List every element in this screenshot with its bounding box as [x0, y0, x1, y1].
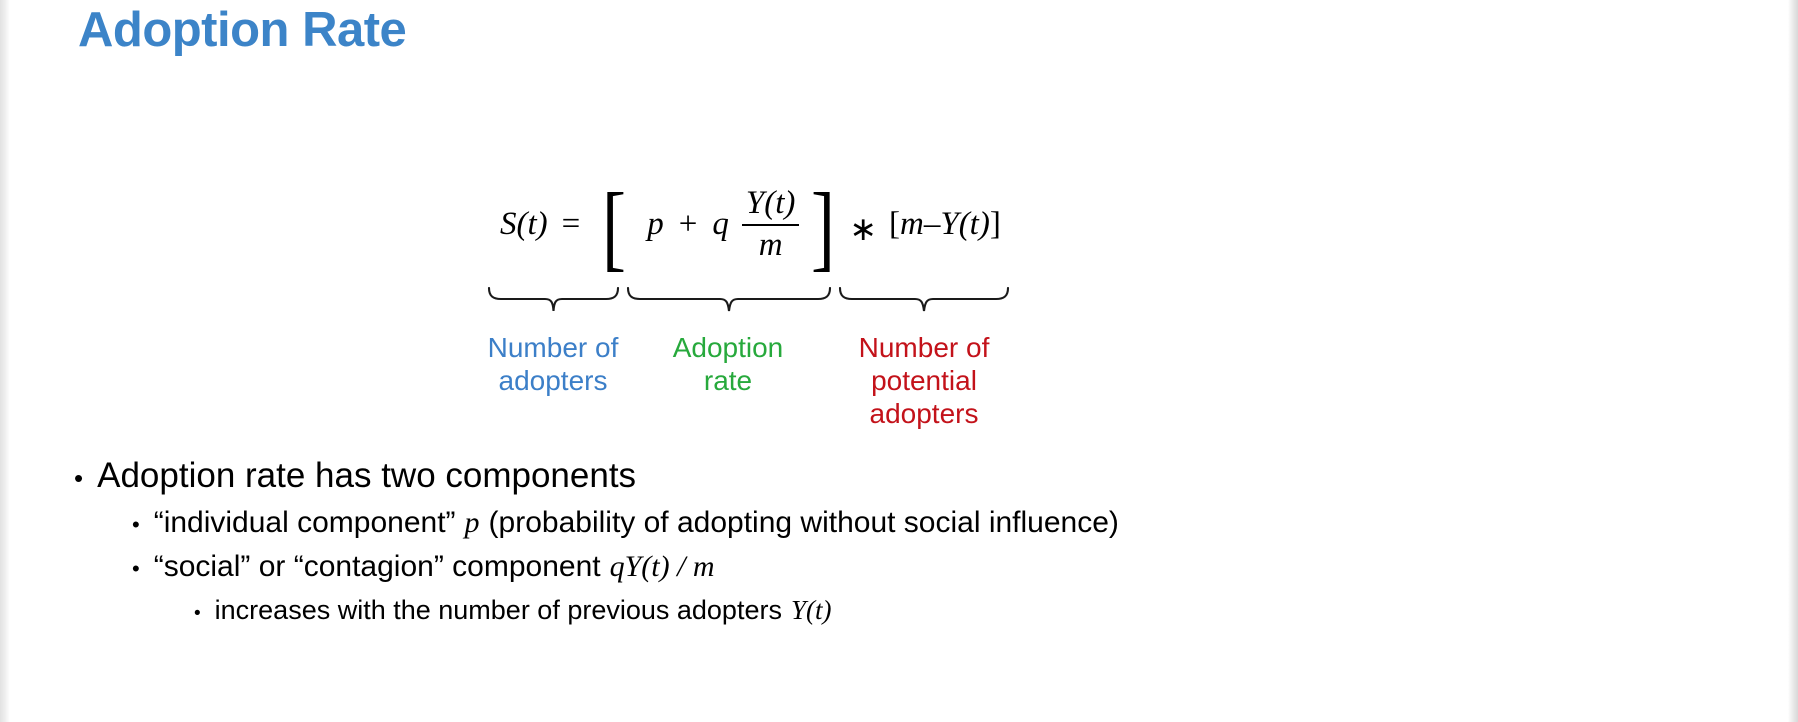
annotation-line-2: adopters — [453, 364, 653, 397]
formula-equals: = — [562, 206, 581, 243]
list-item: • Adoption rate has two components — [70, 452, 1730, 502]
list-item-text: Adoption rate has two components — [97, 452, 636, 500]
list-item-math: Y(t) — [791, 590, 832, 630]
formula-rhs-group: [m–Y(t)] — [889, 206, 1001, 243]
list-item-math: qY(t) / m — [610, 546, 715, 588]
rhs-open-bracket: [ — [889, 206, 900, 242]
slide-left-edge — [0, 0, 10, 722]
list-item: • increases with the number of previous … — [70, 590, 1730, 634]
fraction-denominator: m — [742, 224, 800, 264]
formula-p-term: p — [647, 206, 664, 243]
annotation-line-1: Number of — [453, 331, 653, 364]
formula-inner-group: p + q Y(t) m — [630, 186, 807, 263]
annotation-line-1: Number of — [834, 331, 1014, 364]
rhs-close-bracket: ] — [990, 206, 1001, 242]
list-item-text: “social” or “contagion” component — [154, 546, 601, 588]
fraction-numerator: Y(t) — [742, 186, 800, 224]
bullet-list: • Adoption rate has two components • “in… — [70, 452, 1730, 634]
annotation-number-of-adopters: Number of adopters — [453, 331, 653, 397]
list-item: • “social” or “contagion” component qY(t… — [70, 546, 1730, 590]
page-title: Adoption Rate — [78, 2, 406, 58]
annotation-adoption-rate: Adoption rate — [640, 331, 816, 397]
bullet-glyph-icon: • — [74, 454, 83, 502]
adoption-rate-formula: S(t) = [ p + q Y(t) m ] ∗ [m–Y(t)] — [500, 186, 1001, 263]
formula-fraction: Y(t) m — [742, 186, 800, 263]
rhs-Y: Y(t) — [940, 206, 990, 242]
list-item-math: p — [465, 502, 480, 544]
slide-canvas: Adoption Rate S(t) = [ p + q Y(t) m ] ∗ … — [0, 0, 1798, 722]
bullet-glyph-icon: • — [132, 548, 140, 590]
list-item-text: increases with the number of previous ad… — [215, 590, 782, 630]
rhs-m: m — [900, 206, 924, 242]
annotation-line-2: potential — [834, 364, 1014, 397]
formula-q-term: q — [712, 206, 729, 243]
bullet-glyph-icon: • — [132, 504, 140, 546]
bullet-glyph-icon: • — [194, 594, 201, 634]
rhs-minus: – — [924, 206, 941, 242]
annotation-line-2: rate — [640, 364, 816, 397]
brace-number-of-potential-adopters — [838, 287, 1010, 313]
brace-number-of-adopters — [487, 287, 620, 313]
list-item-text: “individual component” — [154, 502, 456, 544]
slide-right-edge — [1788, 0, 1798, 722]
formula-asterisk: ∗ — [849, 209, 877, 249]
list-item: • “individual component” p (probability … — [70, 502, 1730, 546]
annotation-line-1: Adoption — [640, 331, 816, 364]
brace-adoption-rate — [626, 287, 832, 313]
annotation-number-of-potential-adopters: Number of potential adopters — [834, 331, 1014, 430]
formula-plus: + — [679, 206, 698, 243]
formula-lhs: S(t) — [500, 206, 548, 243]
list-item-text-tail: (probability of adopting without social … — [489, 502, 1119, 544]
annotation-line-3: adopters — [834, 397, 1014, 430]
